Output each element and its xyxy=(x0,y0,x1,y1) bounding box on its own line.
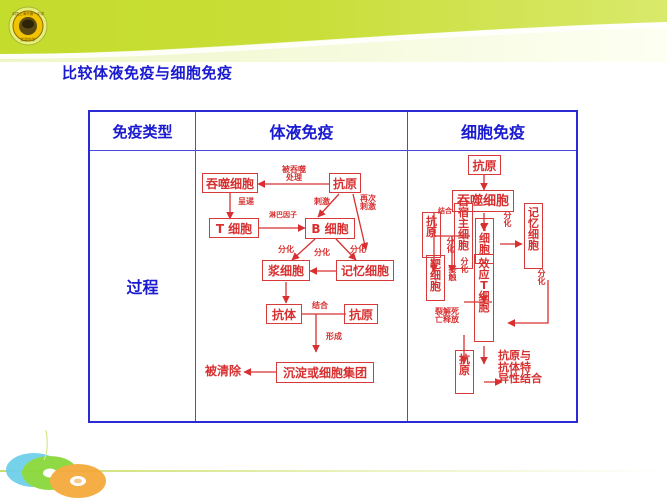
edge-label-differentiate-memory: 分化 xyxy=(500,212,515,229)
edge-label-lymphokine: 淋巴因子 xyxy=(260,212,306,219)
edge-label-differentiate-target: 分化 xyxy=(443,238,458,255)
edge-label-bind: 结合 xyxy=(438,208,452,215)
node-effector-t-cell: 效 应 T 细 胞 xyxy=(474,254,494,342)
node-antigen-left: 抗 原 xyxy=(422,212,441,258)
node-precipitate-or-cell-cluster: 沉淀或细胞集团 xyxy=(276,362,374,383)
slide-top-banner xyxy=(0,0,667,62)
edge-label-differentiate-memory-loop: 分化 xyxy=(534,270,549,287)
table-row-label-process: 过程 xyxy=(90,150,195,421)
svg-text:实验中学: 实验中学 xyxy=(20,37,35,42)
cellular-immunity-diagram: 抗原 吞噬细胞 抗 原 宿 主 细 胞 T 细 胞 记 忆 细 胞 靶 细 胞 … xyxy=(408,150,578,421)
table-header-humoral-immunity: 体液免疫 xyxy=(196,112,407,150)
node-t-cell: T 细胞 xyxy=(209,218,259,238)
node-memory-cell: 记 忆 细 胞 xyxy=(524,203,543,269)
node-antigen-bottom: 抗 原 xyxy=(455,350,474,394)
edge-label-stimulate: 刺激 xyxy=(308,198,336,206)
edge-label-restimulate: 再次 刺激 xyxy=(354,195,382,212)
edge-label-differentiate-plasma: 分化 xyxy=(272,246,300,254)
edge-label-differentiate-mid: 分化 xyxy=(308,249,336,257)
edge-label-lysis-release: 裂解死 亡释放 xyxy=(430,308,464,325)
footer-disc-decoration xyxy=(0,430,240,500)
page-title: 比较体液免疫与细胞免疫 xyxy=(62,62,233,83)
comparison-table: 免疫类型 体液免疫 细胞免疫 过程 xyxy=(88,110,578,423)
node-antigen-top: 抗原 xyxy=(468,155,501,175)
edge-label-contact: 接触 xyxy=(445,266,460,283)
table-header-immunity-type: 免疫类型 xyxy=(90,112,195,150)
node-antibody: 抗体 xyxy=(266,304,302,324)
school-emblem-logo: 中国上海市第一中学 实验中学 xyxy=(7,5,49,47)
node-plasma-cell: 浆细胞 xyxy=(262,260,310,281)
node-cleared: 被清除 xyxy=(199,365,247,378)
node-target-cell: 靶 细 胞 xyxy=(426,255,445,301)
table-header-cellular-immunity: 细胞免疫 xyxy=(408,112,578,150)
node-antigen-secondary: 抗原 xyxy=(344,304,378,324)
node-specific-binding: 抗原与 抗体特 异性结合 xyxy=(498,350,562,385)
node-b-cell: B 细胞 xyxy=(305,218,355,239)
edge-label-differentiate-memory: 分化 xyxy=(344,246,372,254)
edge-label-present: 呈递 xyxy=(229,198,263,206)
node-antigen-top: 抗原 xyxy=(329,173,361,193)
edge-label-form: 形成 xyxy=(320,333,348,341)
svg-text:中国上海市第一中学: 中国上海市第一中学 xyxy=(12,11,45,16)
humoral-immunity-diagram: 吞噬细胞 抗原 T 细胞 B 细胞 浆细胞 记忆细胞 抗体 抗原 沉淀或细胞集团… xyxy=(196,150,407,421)
edge-label-bind: 结合 xyxy=(306,302,334,310)
node-memory-cell: 记忆细胞 xyxy=(336,260,394,281)
node-phagocyte: 吞噬细胞 xyxy=(202,173,258,193)
edge-label-engulf-process: 被吞噬 处理 xyxy=(266,166,322,183)
